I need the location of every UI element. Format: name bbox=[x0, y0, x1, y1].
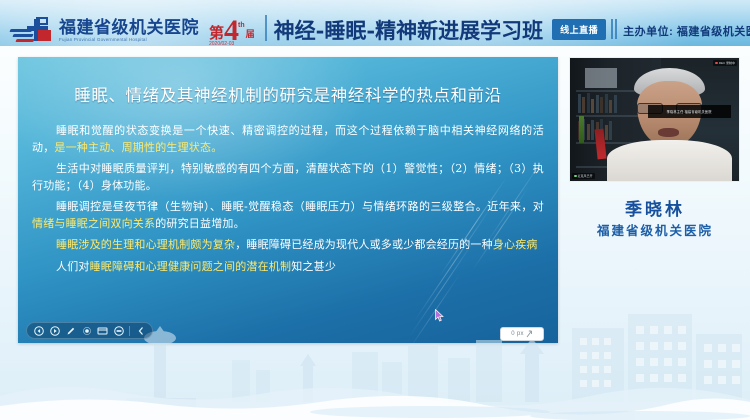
slide-text-run: ，睡眠障碍已经成为现代人或多或少都会经历的一种 bbox=[235, 238, 493, 251]
previous-icon[interactable] bbox=[33, 325, 44, 336]
slide-paragraph: 人们对睡眠障碍和心理健康问题之间的潜在机制知之甚少 bbox=[32, 259, 544, 276]
speaker-organization: 福建省级机关医院 bbox=[560, 220, 750, 239]
play-icon[interactable] bbox=[49, 325, 60, 336]
hospital-name-cn: 福建省级机关医院 bbox=[59, 20, 199, 37]
mic-dot-icon bbox=[574, 175, 577, 178]
slide-text-run: 的研究日益增加。 bbox=[155, 217, 245, 230]
slide-paragraph: 睡眠调控是昼夜节律（生物钟）、睡眠-觉醒稳态（睡眠压力）与情绪环路的三级整合。近… bbox=[32, 199, 544, 232]
corner-widget-icon bbox=[526, 330, 533, 338]
organizer-text: 主办单位: 福建省级机关医院 bbox=[623, 23, 750, 39]
laser-pointer-icon[interactable] bbox=[81, 325, 92, 336]
header-double-divider bbox=[611, 19, 617, 39]
live-stream-badge[interactable]: 线上直播 bbox=[552, 19, 606, 40]
shirt bbox=[607, 140, 732, 183]
microphone-badge: 麦克风已开 bbox=[572, 173, 595, 179]
slide-text-run: 知之甚少 bbox=[291, 260, 336, 273]
slide-highlighted-text: 睡眠障碍和心理健康问题之间的潜在机制 bbox=[90, 260, 292, 273]
edition-number: 4 bbox=[224, 19, 238, 42]
edition-date: 2020/02-03 bbox=[209, 41, 234, 46]
wall-poster bbox=[585, 68, 617, 88]
slide-title: 睡眠、情绪及其神经机制的研究是神经科学的热点和前沿 bbox=[18, 82, 558, 106]
slide-highlighted-text: 是一种主动、周期性的生理状态。 bbox=[54, 141, 222, 154]
video-scene: 季晓林主任 福建省级机关医院 REC 录制中 麦克风已开 bbox=[570, 58, 739, 181]
speaker-video-feed[interactable]: 季晓林主任 福建省级机关医院 REC 录制中 麦克风已开 bbox=[569, 57, 740, 182]
edition-ordinal: th bbox=[238, 22, 245, 29]
slide-toolbar[interactable] bbox=[26, 322, 153, 339]
slide-highlighted-text: 情绪与睡眠之间双向关系 bbox=[32, 217, 155, 230]
hospital-name-block: 福建省级机关医院 Fujian Provincial Governmental … bbox=[59, 20, 199, 43]
slide-text-run: 人们对 bbox=[56, 260, 90, 273]
recording-badge-text: REC 录制中 bbox=[719, 61, 735, 65]
conference-header-banner: 福建省级机关医院 Fujian Provincial Governmental … bbox=[0, 0, 750, 46]
slide-paragraph: 睡眠和觉醒的状态变换是一个快速、精密调控的过程，而这个过程依赖于脑中相关神经网络… bbox=[32, 123, 544, 156]
conference-title: 神经-睡眠-精神新进展学习班 bbox=[274, 20, 543, 42]
slide-paragraph: 生活中对睡眠质量评判，特别敏感的有四个方面，清醒状态下的（1）警觉性；（2）情绪… bbox=[32, 161, 544, 194]
mouse-cursor-icon bbox=[435, 309, 444, 322]
video-name-overlay-text: 季晓林主任 福建省级机关医院 bbox=[667, 109, 712, 114]
microphone-badge-text: 麦克风已开 bbox=[578, 174, 593, 178]
slide-text-run: 睡眠调控是昼夜节律（生物钟）、睡眠-觉醒稳态（睡眠压力）与情绪环路的三级整合。近… bbox=[56, 200, 544, 213]
toolbar-separator bbox=[129, 326, 130, 336]
slide-widget-label: 0 px bbox=[511, 331, 524, 337]
edition-block: 第 4 th 届 2020/02-03 bbox=[209, 19, 259, 42]
webinar-screen: 福建省级机关医院 Fujian Provincial Governmental … bbox=[0, 0, 750, 420]
collapse-icon[interactable] bbox=[135, 325, 146, 336]
speaker-panel: 季晓林主任 福建省级机关医院 REC 录制中 麦克风已开 季晓林 福建省级机关医… bbox=[560, 50, 750, 275]
hospital-cross-logo-icon bbox=[10, 16, 56, 42]
green-bottle bbox=[579, 116, 584, 143]
slide-paragraph: 睡眠涉及的生理和心理机制颇为复杂，睡眠障碍已经成为现代人或多或少都会经历的一种身… bbox=[32, 237, 544, 254]
speaker-portrait bbox=[621, 68, 719, 182]
mouth bbox=[658, 128, 680, 137]
speaker-name: 季晓林 bbox=[560, 195, 750, 220]
eraser-icon[interactable] bbox=[113, 325, 124, 336]
recording-badge: REC 录制中 bbox=[713, 60, 737, 66]
slide-text-run: 生活中对睡眠质量评判，特别敏感的有四个方面，清醒状态下的（1）警觉性；（2）情绪… bbox=[32, 162, 544, 192]
header-divider bbox=[265, 15, 267, 41]
record-dot-icon bbox=[715, 62, 718, 65]
slide-body-text: 睡眠和觉醒的状态变换是一个快速、精密调控的过程，而这个过程依赖于脑中相关神经网络… bbox=[32, 123, 544, 275]
edition-prefix: 第 bbox=[209, 26, 224, 42]
slide-highlighted-text: 睡眠涉及的生理和心理机制颇为复杂 bbox=[56, 238, 235, 251]
pen-icon[interactable] bbox=[65, 325, 76, 336]
slide-corner-widget[interactable]: 0 px bbox=[500, 327, 544, 341]
slides-icon[interactable] bbox=[97, 325, 108, 336]
presentation-slide[interactable]: 睡眠、情绪及其神经机制的研究是神经科学的热点和前沿 睡眠和觉醒的状态变换是一个快… bbox=[18, 57, 558, 343]
edition-unit: 届 bbox=[246, 31, 255, 42]
video-name-overlay: 季晓林主任 福建省级机关医院 bbox=[648, 105, 731, 119]
slide-highlighted-text: 身心疾病 bbox=[493, 238, 538, 251]
hospital-name-en: Fujian Provincial Governmental Hospital bbox=[59, 38, 199, 43]
